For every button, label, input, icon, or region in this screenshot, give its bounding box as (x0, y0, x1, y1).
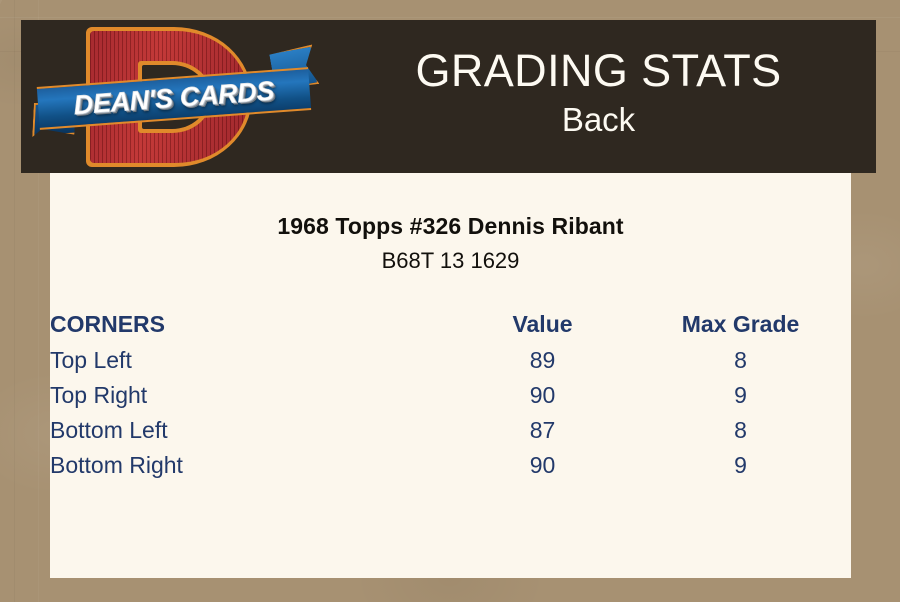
table-row: Bottom Right 90 9 (50, 448, 851, 483)
content-panel: 1968 Topps #326 Dennis Ribant B68T 13 16… (50, 173, 851, 578)
table-body: Top Left 89 8 Top Right 90 9 Bottom Left… (50, 343, 851, 483)
table-header-row: CORNERS Value Max Grade (50, 306, 851, 343)
table-row: Top Left 89 8 (50, 343, 851, 378)
row-value: 89 (455, 343, 630, 378)
row-max-grade: 8 (630, 413, 851, 448)
logo-ribbon-icon: DEAN'S CARDS (36, 61, 311, 137)
row-max-grade: 9 (630, 448, 851, 483)
column-header-max-grade: Max Grade (630, 306, 851, 343)
table-row: Top Right 90 9 (50, 378, 851, 413)
deans-cards-logo[interactable]: DEAN'S CARDS (38, 23, 310, 170)
page-title: GRADING STATS (415, 47, 781, 94)
row-label: Bottom Left (50, 413, 455, 448)
grading-stats-table: CORNERS Value Max Grade Top Left 89 8 To… (50, 306, 851, 483)
row-max-grade: 8 (630, 343, 851, 378)
page-subtitle: Back (562, 98, 635, 143)
row-label: Bottom Right (50, 448, 455, 483)
row-label: Top Right (50, 378, 455, 413)
row-label: Top Left (50, 343, 455, 378)
logo-wordmark: DEAN'S CARDS (37, 67, 311, 130)
row-value: 90 (455, 448, 630, 483)
table-row: Bottom Left 87 8 (50, 413, 851, 448)
row-max-grade: 9 (630, 378, 851, 413)
header-bar: DEAN'S CARDS GRADING STATS Back (21, 20, 876, 173)
card-serial-number: B68T 13 1629 (50, 248, 851, 274)
row-value: 87 (455, 413, 630, 448)
header-title-group: GRADING STATS Back (321, 20, 876, 173)
card-heading: 1968 Topps #326 Dennis Ribant (50, 213, 851, 240)
column-header-section: CORNERS (50, 306, 455, 343)
table-header: CORNERS Value Max Grade (50, 306, 851, 343)
row-value: 90 (455, 378, 630, 413)
column-header-value: Value (455, 306, 630, 343)
